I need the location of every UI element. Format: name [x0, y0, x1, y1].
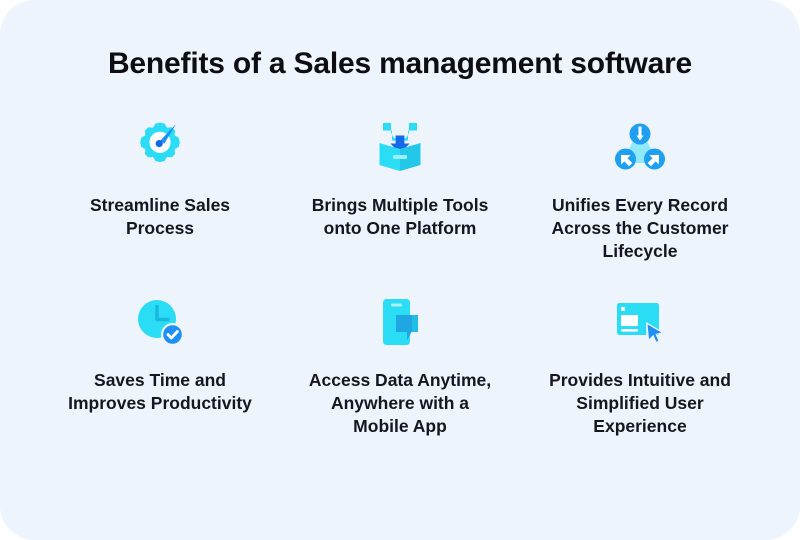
benefit-item-saves-time: Saves Time and Improves Productivity	[40, 291, 280, 466]
gear-speedometer-icon	[129, 116, 191, 178]
benefit-label: Access Data Anytime, Anywhere with a Mob…	[309, 369, 491, 438]
window-cursor-icon	[609, 291, 671, 353]
benefit-label: Unifies Every Record Across the Customer…	[552, 194, 729, 263]
benefit-label: Streamline Sales Process	[90, 194, 230, 240]
mobile-chat-icon	[369, 291, 431, 353]
benefit-item-streamline-sales-process: Streamline Sales Process	[40, 116, 280, 291]
benefit-label: Provides Intuitive and Simplified User E…	[549, 369, 731, 438]
benefits-card: Benefits of a Sales management software …	[0, 0, 800, 540]
benefit-label: Saves Time and Improves Productivity	[68, 369, 252, 415]
benefit-label: Brings Multiple Tools onto One Platform	[312, 194, 489, 240]
box-arrows-in-icon	[369, 116, 431, 178]
network-converge-icon	[609, 116, 671, 178]
benefit-item-provides-intuitive-ux: Provides Intuitive and Simplified User E…	[520, 291, 760, 466]
benefit-item-unifies-every-record: Unifies Every Record Across the Customer…	[520, 116, 760, 291]
clock-check-icon	[129, 291, 191, 353]
benefit-item-brings-multiple-tools: Brings Multiple Tools onto One Platform	[280, 116, 520, 291]
page-title: Benefits of a Sales management software	[108, 49, 692, 79]
benefits-grid: Streamline Sales Process Brings Multiple…	[40, 116, 760, 466]
benefit-item-access-data-anytime: Access Data Anytime, Anywhere with a Mob…	[280, 291, 520, 466]
